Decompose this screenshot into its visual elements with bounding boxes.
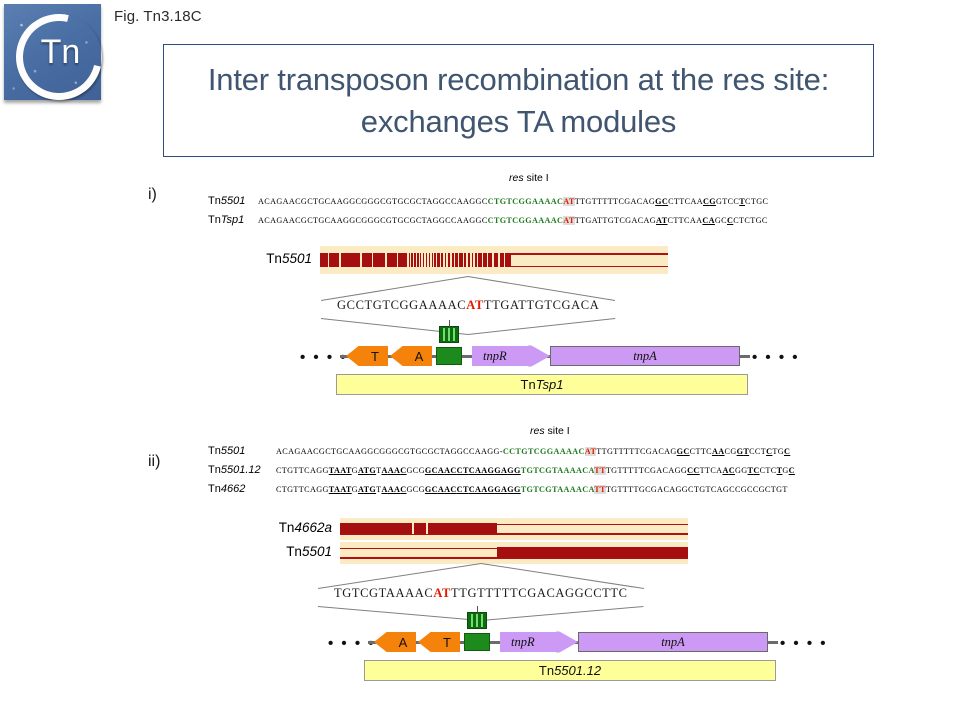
panel-0-res-connector <box>449 320 450 327</box>
panel-0-ta-arrow-a: A <box>390 346 432 366</box>
bar-tick <box>430 253 432 267</box>
bar-tick <box>492 253 494 267</box>
panel-1-ta-arrow-t: T <box>418 632 460 652</box>
panel-1-gene-tnpr-label: tnpR <box>500 635 535 650</box>
res-stripe <box>471 614 473 627</box>
bar-tick <box>427 253 429 267</box>
bar-tick <box>424 253 426 267</box>
bar-tick <box>372 253 374 267</box>
bar-tick <box>470 253 472 267</box>
bar-tick <box>504 253 506 267</box>
panel-0-res-site-label: res site I <box>509 172 549 184</box>
panel-1-align-name-0: Tn5501 <box>208 445 245 457</box>
bar-tick <box>397 253 399 267</box>
bar-tick <box>466 253 468 267</box>
panel-0-bar-0 <box>320 246 668 274</box>
panel-1-align-sequence-2: CTGTTCAGGTAATGATGTAAACGCGGCAACCTCAAGGAGG… <box>276 485 788 494</box>
panel-0-gene-right-linker <box>740 355 750 358</box>
bar-tick <box>440 253 442 267</box>
panel-0-span-bar-label: TnTsp1 <box>521 377 564 392</box>
panel-1-align-sequence-1: CTGTTCAGGTAATGATGTAAACGCGGCAACCTCAAGGAGG… <box>276 466 795 475</box>
bar-tick <box>410 253 412 267</box>
bar-fill-block <box>320 253 511 267</box>
bar-tick <box>360 253 362 267</box>
bar-tick <box>477 253 479 267</box>
panel-1-bar-1 <box>340 542 688 564</box>
bar-tick <box>421 253 423 267</box>
bar-tick <box>473 253 475 267</box>
panel-1-gene-linker <box>490 641 500 644</box>
bar-tick <box>436 253 438 267</box>
panel-0-gene-linker <box>462 355 472 358</box>
panel-1-zoom-sequence: TGTCGTAAAACATTTGTTTTTCGACAGGCCTTC <box>334 586 628 601</box>
panel-1-bar-0 <box>340 518 688 540</box>
panel-0-res-box <box>436 347 462 365</box>
panel-1-res-box <box>464 633 490 651</box>
panel-1-gene-right-dots: • • • • <box>780 636 828 651</box>
panel-1-roman-numeral: ii) <box>148 453 160 471</box>
panel-1-res-connector <box>477 606 478 613</box>
panel-1-bar-label-1: Tn5501 <box>226 544 332 559</box>
figure-label: Fig. Tn3.18C <box>114 8 202 25</box>
panel-0-align-name-1: TnTsp1 <box>208 214 244 226</box>
bar-tick <box>450 253 452 267</box>
panel-0-res-stripe-box <box>439 326 459 343</box>
bar-tick <box>454 253 456 267</box>
res-stripe <box>476 614 478 627</box>
panel-0-gene-tnpr-label: tnpR <box>472 349 507 364</box>
panel-1-crossover-lower-right <box>481 606 644 621</box>
panel-1-align-name-2: Tn4662 <box>208 483 245 495</box>
bar-tick <box>498 253 500 267</box>
panel-1-align-sequence-0: ACAGAACGCTGCAAGGCGGGCGTGCGCTAGGCCAAGG-CC… <box>276 447 790 456</box>
res-stripe <box>448 328 450 341</box>
bar-tick <box>482 253 484 267</box>
panel-1-ta-arrow-a: A <box>374 632 416 652</box>
panel-0-align-sequence-1: ACAGAACGCTGCAAGGCGGGCGTGCGCTAGGCCAAGGCCT… <box>258 216 768 225</box>
panel-0-roman-numeral: i) <box>148 186 157 204</box>
bar-tick <box>446 253 448 267</box>
bar-tick <box>487 253 489 267</box>
panel-0-bar-label-0: Tn5501 <box>206 251 312 266</box>
bar-tick <box>413 253 415 267</box>
panel-1-span-bar-label: Tn5501.12 <box>539 663 601 678</box>
logo-tn-text: Tn <box>4 4 101 100</box>
bar-tick <box>339 253 341 267</box>
panel-1-span-bar: Tn5501.12 <box>364 660 776 681</box>
panel-1-gene-tnpa: tnpA <box>578 632 768 652</box>
panel-1-res-stripe-box <box>467 612 487 629</box>
bar-tick <box>412 523 414 534</box>
ctn-logo: Tn <box>4 4 101 100</box>
panel-0-gene-tnpa-label: tnpA <box>633 349 657 364</box>
res-stripe <box>453 328 455 341</box>
bar-tick <box>385 253 387 267</box>
res-stripe <box>443 328 445 341</box>
panel-0-gene-tnpa: tnpA <box>550 346 740 366</box>
panel-0-gene-right-dots: • • • • <box>752 350 800 365</box>
panel-1-align-name-1: Tn5501.12 <box>208 464 261 476</box>
bar-tick <box>458 253 460 267</box>
panel-0-zoom-sequence: GCCTGTCGGAAAACATTTGATTGTCGACA <box>337 298 599 313</box>
bar-tick <box>433 253 435 267</box>
panel-0-ta-arrow-t: T <box>346 346 388 366</box>
page-title: Inter transposon recombination at the re… <box>164 59 873 143</box>
panel-1-gene-right-linker <box>768 641 778 644</box>
panel-1-res-site-label: res site I <box>530 425 570 437</box>
res-stripe <box>481 614 483 627</box>
bar-tick <box>328 253 330 267</box>
panel-1-bar-label-0: Tn4662a <box>226 520 332 535</box>
bar-fill-block <box>340 523 497 534</box>
bar-tick <box>407 253 409 267</box>
panel-0-span-bar: TnTsp1 <box>336 374 748 395</box>
panel-1-crossover-lower-left <box>318 606 481 621</box>
bar-tick <box>443 253 445 267</box>
bar-tick <box>463 253 465 267</box>
panel-1-gene-tnpr: tnpR <box>500 632 578 652</box>
panel-0-crossover-lower-right <box>468 318 615 335</box>
panel-0-align-name-0: Tn5501 <box>208 195 245 207</box>
bar-tick <box>426 523 428 534</box>
title-box: Inter transposon recombination at the re… <box>163 44 874 157</box>
bar-fill-block <box>497 547 688 558</box>
panel-0-align-sequence-0: ACAGAACGCTGCAAGGCGGGCGTGCGCTAGGCCAAGGCCT… <box>258 197 768 206</box>
bar-tick <box>419 253 421 267</box>
panel-0-gene-tnpr: tnpR <box>472 346 550 366</box>
bar-tick <box>416 253 418 267</box>
panel-1-gene-tnpa-label: tnpA <box>661 635 685 650</box>
